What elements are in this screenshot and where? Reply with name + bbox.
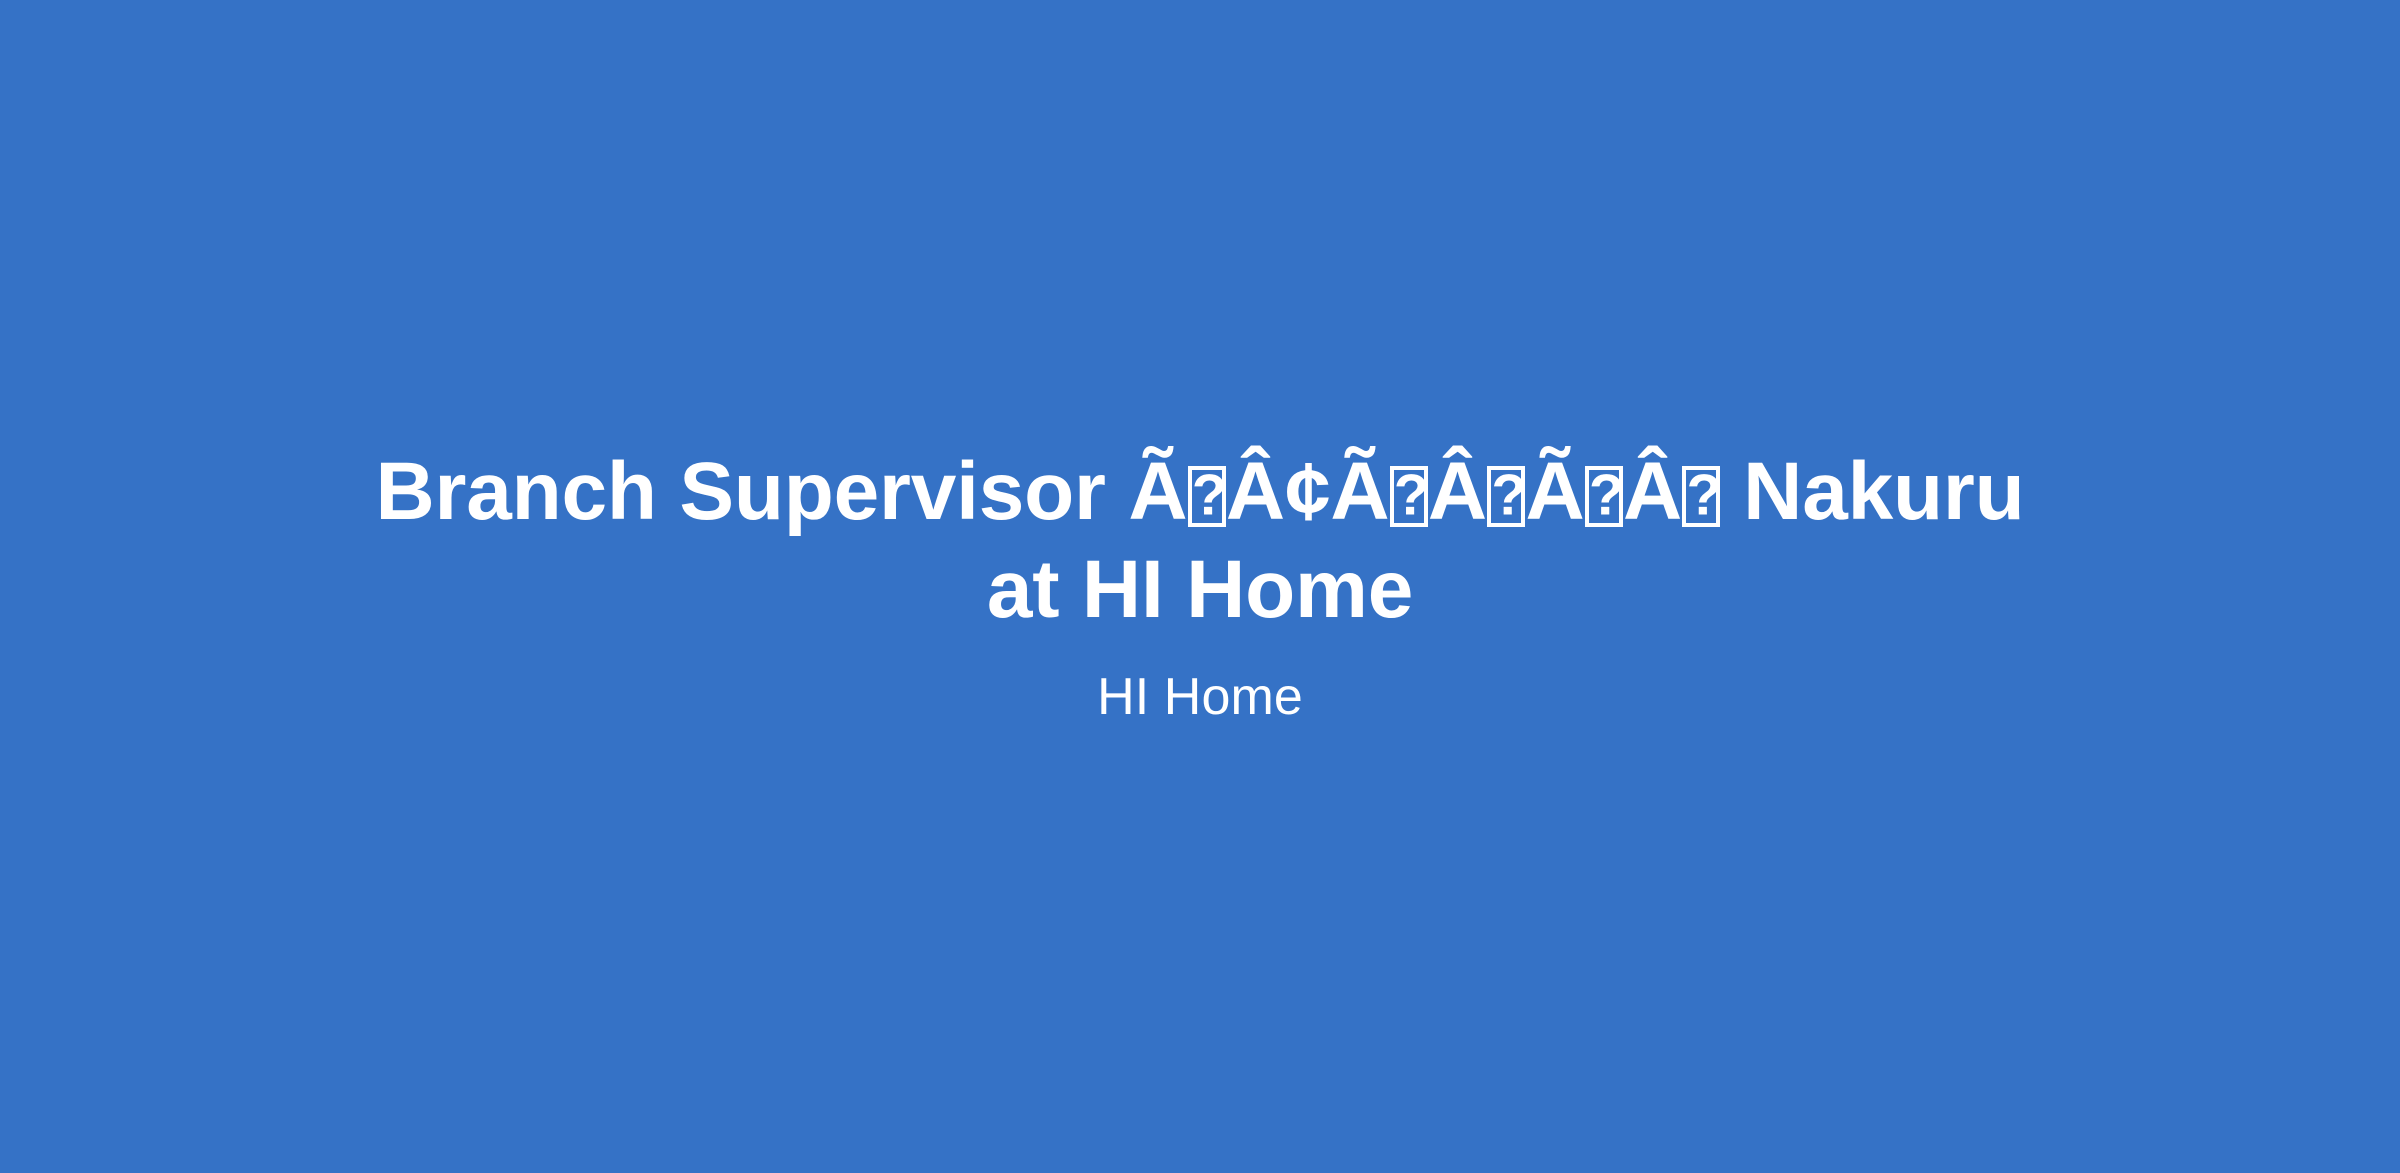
missing-glyph-box-icon-5 <box>1682 466 1720 527</box>
mojibake-char-a-tilde-2: Ã <box>1330 446 1389 537</box>
missing-glyph-box-icon-4 <box>1585 466 1623 527</box>
mojibake-char-a-tilde-1: Ã <box>1128 446 1187 537</box>
mojibake-char-a-tilde-3: Ã <box>1525 446 1584 537</box>
title-encoding-artifact: ÃÂ¢ÃÂÃÂ <box>1128 446 1720 537</box>
mojibake-char-a-circumflex-3: Â <box>1623 446 1682 537</box>
missing-glyph-box-icon-1 <box>1188 466 1226 527</box>
page-title: Branch Supervisor ÃÂ¢ÃÂÃÂ Nakuru at HI H… <box>370 443 2030 640</box>
mojibake-char-cent: ¢ <box>1285 446 1330 537</box>
mojibake-char-a-circumflex-2: Â <box>1428 446 1487 537</box>
page-subtitle: HI Home <box>1097 665 1303 730</box>
missing-glyph-box-icon-3 <box>1487 466 1525 527</box>
hero-content: Branch Supervisor ÃÂ¢ÃÂÃÂ Nakuru at HI H… <box>370 443 2030 731</box>
title-text-leading: Branch Supervisor <box>375 446 1128 537</box>
mojibake-char-a-circumflex-1: Â <box>1226 446 1285 537</box>
missing-glyph-box-icon-2 <box>1390 466 1428 527</box>
hero-banner: Branch Supervisor ÃÂ¢ÃÂÃÂ Nakuru at HI H… <box>0 0 2400 1173</box>
